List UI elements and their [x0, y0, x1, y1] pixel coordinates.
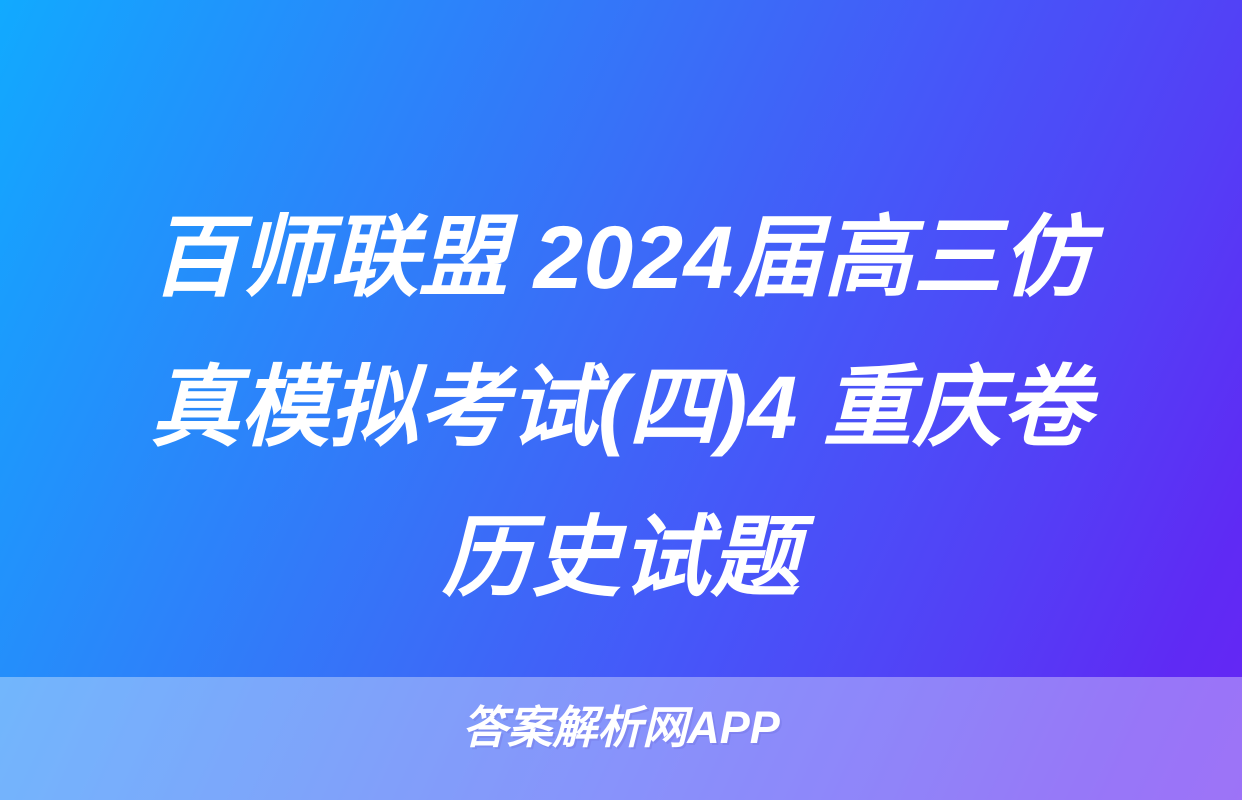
- title-line-3: 历史试题: [76, 482, 1166, 632]
- exam-title-card: 百师联盟 2024届高三仿 真模拟考试(四)4 重庆卷 历史试题 答案解析网AP…: [0, 0, 1242, 800]
- title-line-1: 百师联盟 2024届高三仿: [76, 182, 1166, 332]
- watermark: 答案解析网APP: [0, 702, 1242, 754]
- watermark-label: 答案解析网APP: [462, 702, 780, 754]
- page-title: 百师联盟 2024届高三仿 真模拟考试(四)4 重庆卷 历史试题: [0, 182, 1242, 632]
- title-line-2: 真模拟考试(四)4 重庆卷: [76, 332, 1166, 482]
